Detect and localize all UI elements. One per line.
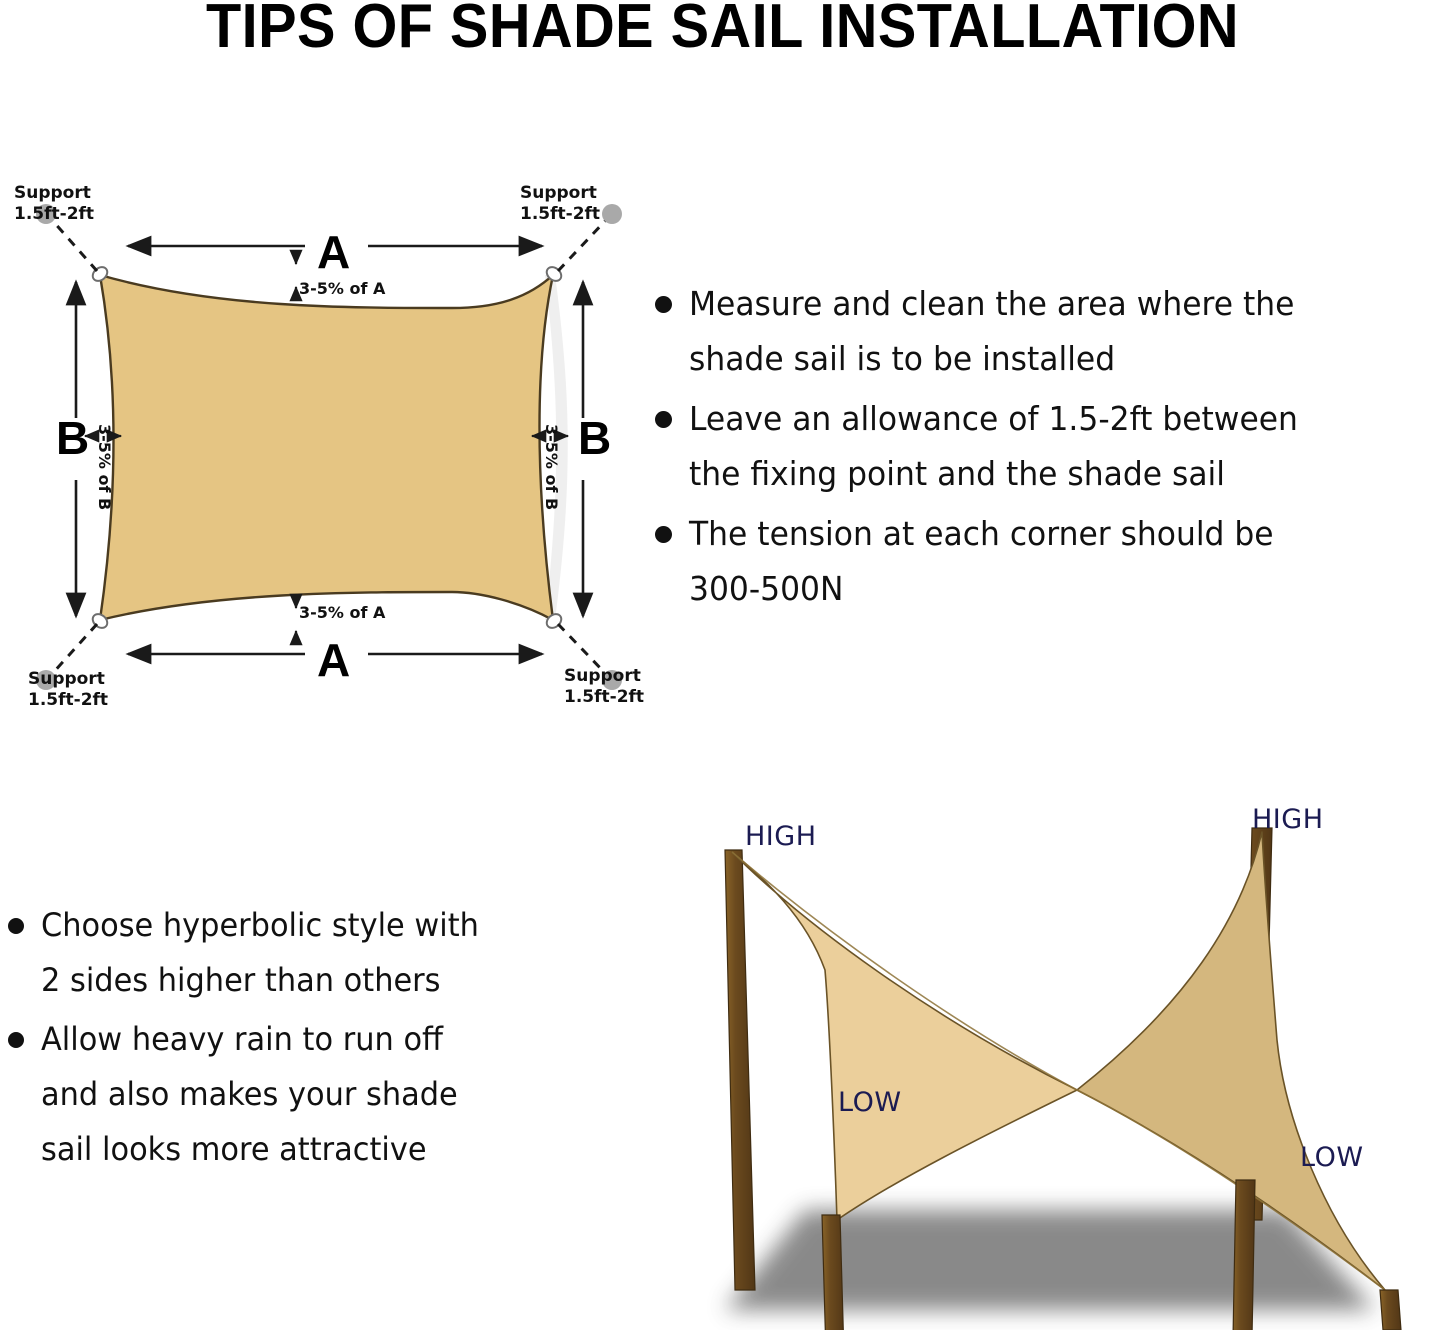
dimension-letter-b-right: B xyxy=(578,415,611,461)
sag-label-left: 3-5% of B xyxy=(96,424,112,510)
bullet-dot-icon xyxy=(8,918,24,934)
list-item-text: Allow heavy rain to run off and also mak… xyxy=(41,1012,458,1177)
list-item-text: Leave an allowance of 1.5-2ft between th… xyxy=(689,391,1298,502)
list-item: The tension at each corner should be 300… xyxy=(655,506,1445,617)
list-item: Choose hyperbolic style with 2 sides hig… xyxy=(8,898,628,1008)
bullet-dot-icon xyxy=(655,296,672,313)
post-mid-right xyxy=(1232,1180,1255,1330)
hyperbolic-sail-diagram-svg xyxy=(685,790,1445,1330)
bullet-dot-icon xyxy=(655,411,672,428)
sag-label-top: 3-5% of A xyxy=(299,281,385,297)
bullet-dot-icon xyxy=(8,1032,24,1048)
support-label-top-left: Support 1.5ft-2ft xyxy=(14,183,94,226)
list-item: Leave an allowance of 1.5-2ft between th… xyxy=(655,391,1445,502)
sag-label-bottom: 3-5% of A xyxy=(299,605,385,621)
corner-label-right-low: LOW xyxy=(1300,1142,1364,1173)
page-title: TIPS OF SHADE SAIL INSTALLATION xyxy=(51,0,1395,59)
support-label-bottom-right: Support 1.5ft-2ft xyxy=(564,666,644,709)
bullet-dot-icon xyxy=(655,526,672,543)
dimension-letter-a-bottom: A xyxy=(317,637,350,683)
sag-label-right: 3-5% of B xyxy=(543,424,559,510)
infographic-page: TIPS OF SHADE SAIL INSTALLATION xyxy=(0,0,1445,1319)
hyperbolic-style-tips-list: Choose hyperbolic style with 2 sides hig… xyxy=(8,898,628,1181)
list-item-text: Choose hyperbolic style with 2 sides hig… xyxy=(41,898,479,1008)
support-label-top-right: Support 1.5ft-2ft xyxy=(520,183,600,226)
dimension-letter-a-top: A xyxy=(317,229,350,275)
list-item: Allow heavy rain to run off and also mak… xyxy=(8,1012,628,1177)
list-item: Measure and clean the area where the sha… xyxy=(655,276,1445,387)
post-right-low xyxy=(1380,1290,1401,1330)
shade-sail-body xyxy=(100,275,553,620)
installation-tips-list: Measure and clean the area where the sha… xyxy=(655,276,1445,621)
corner-label-left-low: LOW xyxy=(838,1087,902,1118)
dimension-letter-b-left: B xyxy=(56,415,89,461)
list-item-text: Measure and clean the area where the sha… xyxy=(689,276,1294,387)
post-left-high xyxy=(725,850,755,1290)
corner-label-right-high: HIGH xyxy=(1252,804,1324,835)
list-item-text: The tension at each corner should be 300… xyxy=(689,506,1274,617)
corner-label-left-high: HIGH xyxy=(745,821,817,852)
sail-panel-left xyxy=(732,852,1077,1220)
support-label-bottom-left: Support 1.5ft-2ft xyxy=(28,669,108,712)
